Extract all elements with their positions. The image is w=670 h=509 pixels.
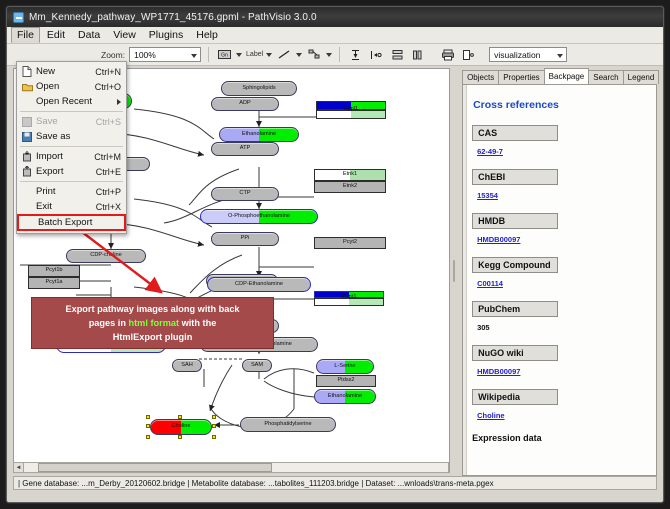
file-menu-item-export[interactable]: Export Ctrl+E: [17, 164, 126, 179]
node-atp[interactable]: ATP: [211, 142, 279, 156]
node-label: Ethanolamine: [328, 394, 362, 400]
line-button[interactable]: [276, 46, 293, 63]
menu-file[interactable]: File: [11, 27, 40, 43]
tab-objects[interactable]: Objects: [462, 70, 499, 84]
pathvisio-main-window: Mm_Kennedy_pathway_WP1771_45176.gpml - P…: [6, 6, 664, 503]
node-label: Cept1: [342, 295, 357, 301]
new-file-icon: [20, 65, 34, 78]
xref-cas: CAS 62-49-7: [472, 125, 647, 159]
menu-separator: [20, 111, 123, 112]
file-menu-accel: Ctrl+P: [96, 187, 123, 197]
pathvisio-app-icon: [13, 12, 24, 23]
menubar: File Edit Data View Plugins Help: [7, 27, 663, 44]
tab-legend[interactable]: Legend: [623, 70, 660, 84]
xref-value-link[interactable]: 15354: [477, 191, 498, 200]
blank-icon: [20, 95, 34, 108]
node-label: Ptdss2: [337, 378, 354, 384]
xref-name: Wikipedia: [472, 389, 558, 405]
file-menu-accel: Ctrl+M: [94, 152, 123, 162]
xref-name: PubChem: [472, 301, 558, 317]
blank-icon: [22, 216, 36, 229]
node-label: Pcyt1b: [45, 268, 62, 274]
align-top-button[interactable]: [347, 46, 364, 63]
toolbar-separator: [339, 47, 340, 62]
xref-value-link[interactable]: HMDB00097: [477, 235, 520, 244]
node-cdp-choline[interactable]: CDP-choline: [66, 249, 146, 263]
node-label: SAM: [251, 363, 263, 369]
visualization-combo[interactable]: visualization: [489, 47, 567, 62]
node-label: Pcyt2: [343, 240, 357, 246]
file-menu-label: Print: [36, 186, 96, 197]
xref-name: Kegg Compound: [472, 257, 558, 273]
node-etnk2[interactable]: Etnk2: [314, 181, 386, 193]
file-menu-label: Import: [36, 151, 94, 162]
file-menu-label: New: [36, 66, 95, 77]
menu-separator: [20, 181, 123, 182]
file-menu-item-open-recent[interactable]: Open Recent: [17, 94, 126, 109]
xref-value-link[interactable]: 62-49-7: [477, 147, 503, 156]
node-label: ADP: [239, 101, 251, 107]
xref-value-link[interactable]: HMDB00097: [477, 367, 520, 376]
file-menu-item-open[interactable]: Open Ctrl+O: [17, 79, 126, 94]
menu-plugins[interactable]: Plugins: [143, 27, 189, 43]
callout-line-2: pages in html format with the: [89, 316, 217, 330]
stack-vertical-button[interactable]: [389, 46, 406, 63]
submenu-arrow-icon: [117, 99, 121, 105]
tab-properties[interactable]: Properties: [498, 70, 544, 84]
file-menu-label: Open: [36, 81, 95, 92]
file-menu-accel: Ctrl+X: [96, 202, 123, 212]
node-ppi[interactable]: PPi: [211, 232, 279, 246]
callout-line-3: HtmlExport plugin: [113, 330, 193, 344]
datanode-dropdown-icon[interactable]: [236, 53, 242, 57]
expression-data-title: Expression data: [472, 433, 647, 443]
canvas-horizontal-scrollbar[interactable]: ◄: [13, 462, 449, 473]
xref-chebi: ChEBI 15354: [472, 169, 647, 203]
side-panel-container: Objects Properties Backpage Search Legen…: [456, 66, 663, 476]
label-dropdown-icon[interactable]: [266, 53, 272, 57]
line-dropdown-icon[interactable]: [296, 53, 302, 57]
node-label: O-Phosphoethanolamine: [228, 214, 290, 220]
callout-highlight: html format: [129, 318, 180, 328]
callout-line-2-pre: pages in: [89, 318, 129, 328]
node-pcyt1b[interactable]: Pcyt1b: [28, 265, 80, 277]
desktop-background: Mm_Kennedy_pathway_WP1771_45176.gpml - P…: [0, 0, 670, 509]
xref-nugo-wiki: NuGO wiki HMDB00097: [472, 345, 647, 379]
window-title: Mm_Kennedy_pathway_WP1771_45176.gpml - P…: [29, 12, 317, 23]
print-button[interactable]: [439, 46, 456, 63]
statusbar: | Gene database: ...m_Derby_20120602.bri…: [7, 476, 663, 502]
xref-name: HMDB: [472, 213, 558, 229]
window-titlebar: Mm_Kennedy_pathway_WP1771_45176.gpml - P…: [7, 7, 663, 27]
file-menu-item-new[interactable]: New Ctrl+N: [17, 64, 126, 79]
menu-data[interactable]: Data: [72, 27, 106, 43]
file-menu-accel: Ctrl+S: [96, 117, 123, 127]
file-menu-label: Save: [36, 116, 96, 127]
file-menu-item-print[interactable]: Print Ctrl+P: [17, 184, 126, 199]
xref-value-link[interactable]: Choline: [477, 411, 505, 420]
file-menu-label: Exit: [36, 201, 96, 212]
node-label: Sphingolipids: [242, 86, 275, 92]
backpage-panel[interactable]: Cross references CAS 62-49-7 ChEBI 15354…: [462, 84, 657, 476]
menu-help[interactable]: Help: [190, 27, 224, 43]
node-ptdss2[interactable]: Ptdss2: [316, 375, 376, 387]
stack-horizontal-button[interactable]: [410, 46, 427, 63]
tab-search[interactable]: Search: [588, 70, 623, 84]
node-label: CDP-Ethanolamine: [235, 282, 283, 288]
align-left-button[interactable]: [368, 46, 385, 63]
menu-separator: [20, 146, 123, 147]
toolbar-separator: [208, 47, 209, 62]
zoom-combo[interactable]: 100%: [129, 47, 201, 62]
file-menu-label: Batch Export: [38, 217, 121, 228]
copy-layout-button[interactable]: [460, 46, 477, 63]
tab-backpage[interactable]: Backpage: [544, 68, 590, 84]
node-phosphatidylserine[interactable]: Phosphatidylserine: [240, 417, 336, 432]
export-icon: [20, 165, 34, 178]
cross-references-title: Cross references: [473, 99, 647, 111]
file-menu-label: Save as: [36, 131, 121, 142]
xref-name: ChEBI: [472, 169, 558, 185]
node-sam[interactable]: SAM: [242, 359, 272, 372]
callout-line-2-post: with the: [179, 318, 216, 328]
save-icon: [20, 115, 34, 128]
scrollbar-thumb[interactable]: [38, 463, 272, 472]
callout-line-1: Export pathway images along with back: [65, 302, 239, 316]
status-text: | Gene database: ...m_Derby_20120602.bri…: [13, 476, 657, 490]
selection-handles[interactable]: [146, 415, 216, 439]
file-menu-item-save-as[interactable]: Save as: [17, 129, 126, 144]
file-menu-dropdown[interactable]: New Ctrl+N Open Ctrl+O Open Recent: [16, 61, 127, 234]
node-label: Etnk2: [343, 184, 357, 190]
side-tabstrip: Objects Properties Backpage Search Legen…: [456, 68, 657, 84]
node-cept1[interactable]: Cept1: [314, 298, 384, 306]
file-menu-accel: Ctrl+N: [95, 67, 123, 77]
node-cdp-ethanolamine[interactable]: CDP-Ethanolamine: [207, 277, 311, 292]
interaction-dropdown-icon[interactable]: [326, 53, 332, 57]
folder-open-icon: [20, 80, 34, 93]
xref-kegg-compound: Kegg Compound C00114: [472, 257, 647, 291]
node-ctp[interactable]: CTP: [211, 187, 279, 201]
node-label: Sgpl1: [344, 107, 358, 113]
node-pcyt1a[interactable]: Pcyt1a: [28, 277, 80, 289]
blank-icon: [20, 185, 34, 198]
xref-name: NuGO wiki: [472, 345, 558, 361]
node-sah[interactable]: SAH: [172, 359, 202, 372]
node-label: SAH: [181, 363, 193, 369]
side-panel-rail: [463, 85, 467, 475]
file-menu-accel: Ctrl+E: [96, 167, 123, 177]
zoom-label: Zoom:: [101, 50, 125, 60]
blank-icon: [20, 200, 34, 213]
datanode-button[interactable]: Gn: [216, 46, 233, 63]
menu-edit[interactable]: Edit: [41, 27, 71, 43]
node-adp[interactable]: ADP: [211, 97, 279, 111]
node-label: CTP: [239, 191, 250, 197]
file-menu-label: Open Recent: [36, 96, 117, 107]
node-ethanolamine-top[interactable]: Ethanolamine: [219, 127, 299, 142]
save-as-icon: [20, 130, 34, 143]
menu-view[interactable]: View: [107, 27, 142, 43]
node-etnk1[interactable]: Etnk1: [314, 169, 386, 181]
xref-wikipedia: Wikipedia Choline: [472, 389, 647, 423]
xref-hmdb: HMDB HMDB00097: [472, 213, 647, 247]
visualization-value: visualization: [494, 50, 540, 60]
file-menu-item-batch-export[interactable]: Batch Export: [17, 214, 126, 231]
node-label: Etnk1: [343, 172, 357, 178]
node-label: ATP: [240, 146, 250, 152]
node-label: L-Serine: [334, 364, 355, 370]
node-ethanolamine-bottom[interactable]: Ethanolamine: [314, 389, 376, 404]
svg-text:Gn: Gn: [221, 53, 228, 59]
chevron-down-icon: [191, 54, 197, 58]
xref-name: CAS: [472, 125, 558, 141]
node-sphingolipids[interactable]: Sphingolipids: [221, 81, 297, 96]
label-button-text: Label: [246, 51, 263, 58]
import-icon: [20, 150, 34, 163]
node-o-phosphoethanolamine[interactable]: O-Phosphoethanolamine: [200, 209, 318, 224]
xref-value-link[interactable]: C00114: [477, 279, 503, 288]
node-label: Phosphatidylserine: [264, 422, 311, 428]
file-menu-item-import[interactable]: Import Ctrl+M: [17, 149, 126, 164]
node-l-serine[interactable]: L-Serine: [316, 359, 374, 374]
interaction-button[interactable]: [306, 46, 323, 63]
node-label: Pcyt1a: [45, 280, 62, 286]
node-pcyt2[interactable]: Pcyt2: [314, 237, 386, 249]
node-label: Ethanolamine: [242, 132, 276, 138]
file-menu-item-exit[interactable]: Exit Ctrl+X: [17, 199, 126, 214]
xref-value: 305: [477, 323, 490, 332]
annotation-callout: Export pathway images along with back pa…: [31, 297, 274, 349]
chevron-down-icon: [557, 54, 563, 58]
file-menu-accel: Ctrl+O: [95, 82, 123, 92]
xref-pubchem: PubChem 305: [472, 301, 647, 335]
node-label: CDP-choline: [90, 253, 121, 259]
scroll-left-button[interactable]: ◄: [14, 463, 24, 472]
node-label: PPi: [241, 236, 250, 242]
file-menu-item-save: Save Ctrl+S: [17, 114, 126, 129]
label-button[interactable]: Label: [246, 46, 263, 63]
node-sgpl1[interactable]: Sgpl1: [316, 110, 386, 119]
zoom-value: 100%: [134, 50, 156, 60]
file-menu-label: Export: [36, 166, 96, 177]
